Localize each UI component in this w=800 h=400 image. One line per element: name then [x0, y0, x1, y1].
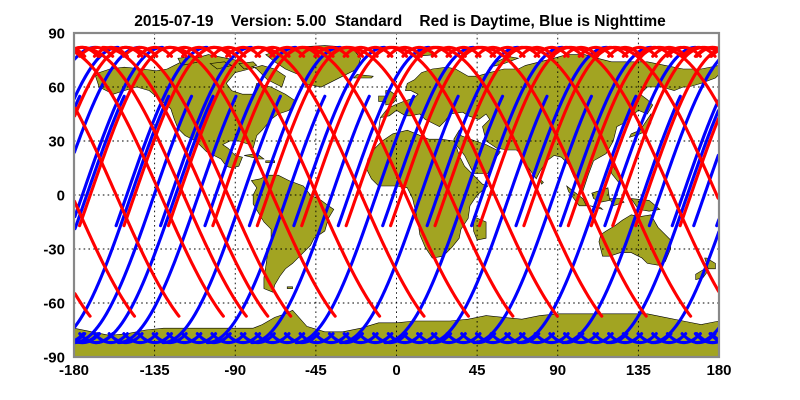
x-tick-label: 45	[469, 362, 486, 379]
ground-track-figure: 2015-07-19 Version: 5.00 Standard Red is…	[0, 0, 800, 400]
y-tick-label: -60	[43, 296, 65, 313]
x-tick-label: -135	[140, 362, 170, 379]
y-tick-label: 60	[48, 80, 65, 97]
landmass	[287, 287, 292, 289]
ground-track-plot: -180-135-90-45045901351809060300-30-60-9…	[0, 0, 800, 400]
x-tick-label: 0	[392, 362, 400, 379]
y-tick-label: -90	[43, 350, 65, 367]
y-tick-label: 0	[57, 188, 65, 205]
x-tick-label: 90	[549, 362, 566, 379]
x-tick-label: 135	[626, 362, 651, 379]
x-tick-label: -90	[224, 362, 246, 379]
x-tick-label: 180	[706, 362, 731, 379]
y-tick-label: -30	[43, 242, 65, 259]
y-tick-label: 90	[48, 26, 65, 43]
x-tick-label: -45	[305, 362, 327, 379]
y-tick-label: 30	[48, 134, 65, 151]
